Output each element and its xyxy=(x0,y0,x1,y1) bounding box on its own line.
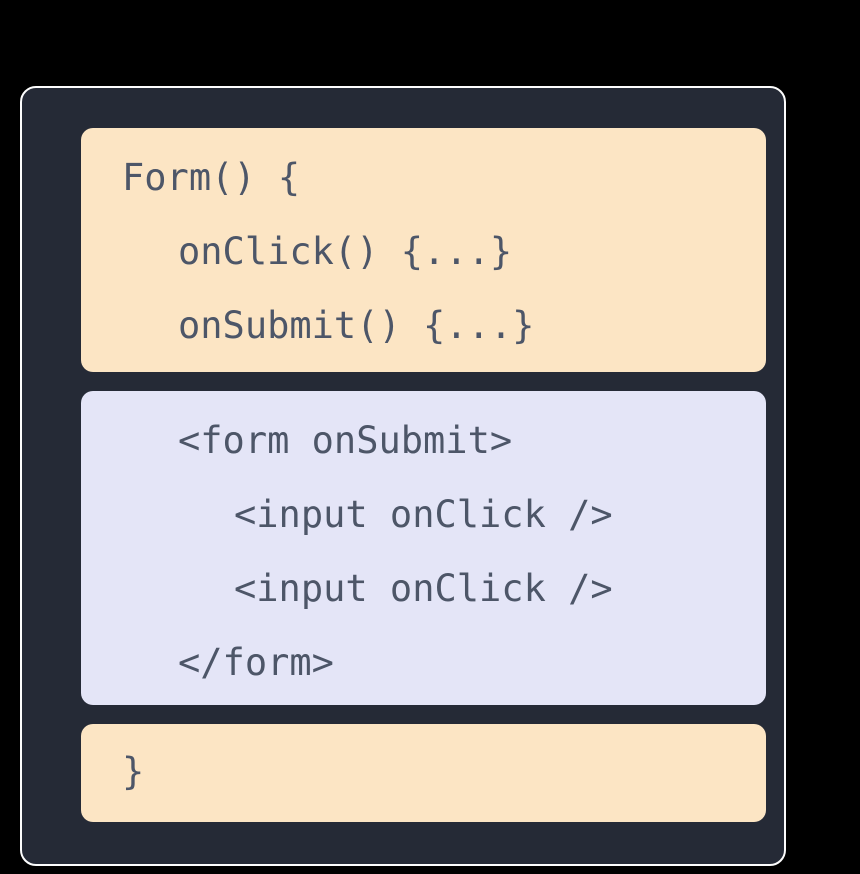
code-line-input-one: <input onClick /> xyxy=(81,478,766,552)
screenshot-root: Form() { onClick() {...} onSubmit() {...… xyxy=(0,0,860,874)
code-line-form-tag-close: </form> xyxy=(81,626,766,700)
code-panel-component-scope-close: } xyxy=(81,724,766,822)
code-line-form-close-brace: } xyxy=(81,735,766,809)
code-line-form-tag-open: <form onSubmit> xyxy=(81,404,766,478)
code-line-input-two: <input onClick /> xyxy=(81,552,766,626)
code-line-form-open: Form() { xyxy=(81,141,766,215)
code-panel-component-scope-open: Form() { onClick() {...} onSubmit() {...… xyxy=(81,128,766,372)
code-line-on-click-handler: onClick() {...} xyxy=(81,215,766,289)
code-line-on-submit-handler: onSubmit() {...} xyxy=(81,289,766,363)
code-card: Form() { onClick() {...} onSubmit() {...… xyxy=(20,86,786,866)
code-panel-jsx-markup: <form onSubmit> <input onClick /> <input… xyxy=(81,391,766,705)
